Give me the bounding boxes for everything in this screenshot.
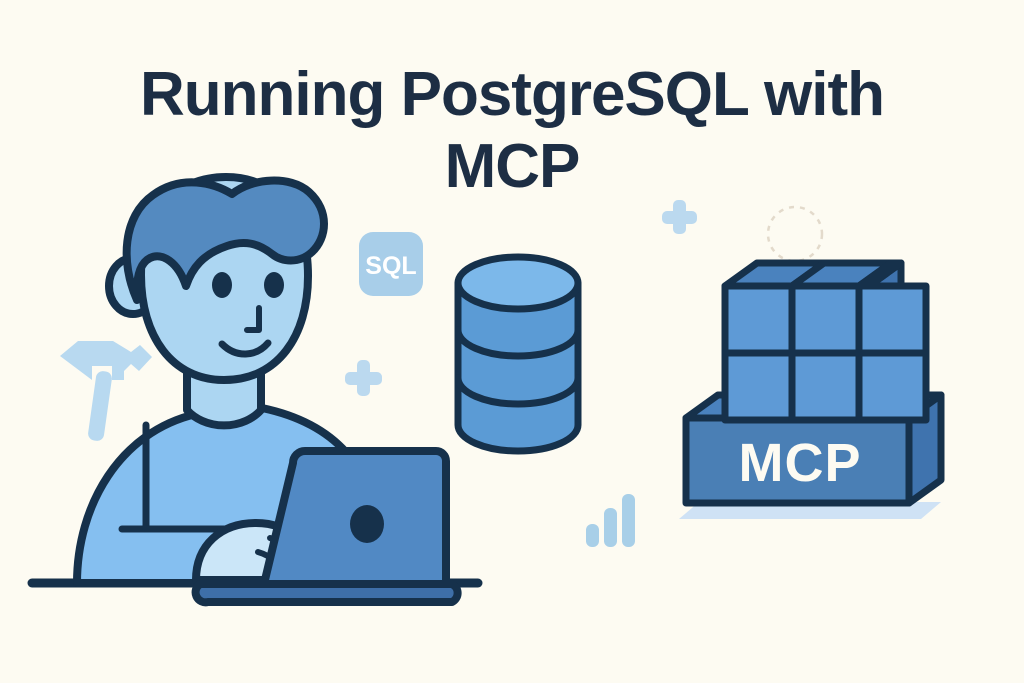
mcp-cube-front-r1c3 bbox=[859, 286, 926, 353]
mcp-block-label: MCP bbox=[739, 433, 862, 493]
mcp-cube-front-r1c2 bbox=[792, 286, 859, 353]
person-eye-right bbox=[264, 272, 284, 298]
mcp-cube-front-r2c1 bbox=[725, 353, 792, 420]
database-cylinder bbox=[458, 257, 578, 451]
sql-badge: SQL bbox=[359, 232, 423, 296]
sql-badge-label: SQL bbox=[365, 252, 416, 280]
mcp-cube-front-r2c2 bbox=[792, 353, 859, 420]
mcp-cube-front-r1c1 bbox=[725, 286, 792, 353]
title-line-2: MCP bbox=[445, 132, 580, 201]
illustration-canvas: Running PostgreSQL with MCP SQL bbox=[0, 0, 1024, 683]
title-line-1: Running PostgreSQL with bbox=[140, 60, 884, 129]
mcp-cube-front-r2c3 bbox=[859, 353, 926, 420]
laptop-logo-icon bbox=[350, 505, 384, 543]
laptop-base bbox=[196, 584, 458, 602]
person-eye-left bbox=[212, 272, 232, 298]
